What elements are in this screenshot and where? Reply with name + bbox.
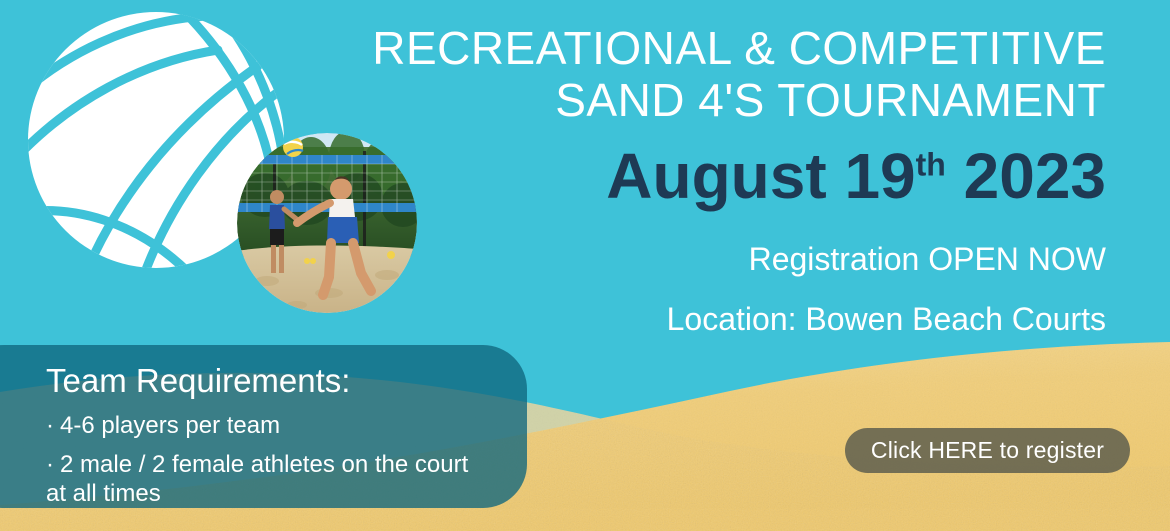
event-date-day: August 19: [606, 140, 915, 212]
requirement-text: 2 male / 2 female athletes on the court …: [46, 451, 468, 507]
requirement-text: 4-6 players per team: [60, 412, 280, 439]
requirement-item: ·2 male / 2 female athletes on the court…: [46, 450, 486, 508]
event-date: August 19th 2023: [326, 138, 1106, 214]
register-button[interactable]: Click HERE to register: [845, 428, 1130, 473]
headline-line-2: SAND 4'S TOURNAMENT: [326, 74, 1106, 126]
registration-status: Registration OPEN NOW: [326, 240, 1106, 278]
bullet-icon: ·: [46, 451, 54, 478]
headline-block: RECREATIONAL & COMPETITIVE SAND 4'S TOUR…: [326, 22, 1106, 338]
team-requirements-panel: Team Requirements: ·4-6 players per team…: [0, 345, 527, 508]
headline-line-1: RECREATIONAL & COMPETITIVE: [326, 22, 1106, 74]
team-requirements-title: Team Requirements:: [46, 361, 497, 401]
requirement-item: ·4-6 players per team: [46, 411, 486, 440]
event-date-ordinal: th: [916, 147, 946, 183]
bullet-icon: ·: [46, 412, 54, 439]
event-location: Location: Bowen Beach Courts: [326, 300, 1106, 338]
event-date-year: 2023: [964, 140, 1106, 212]
tournament-banner: RECREATIONAL & COMPETITIVE SAND 4'S TOUR…: [0, 0, 1170, 531]
